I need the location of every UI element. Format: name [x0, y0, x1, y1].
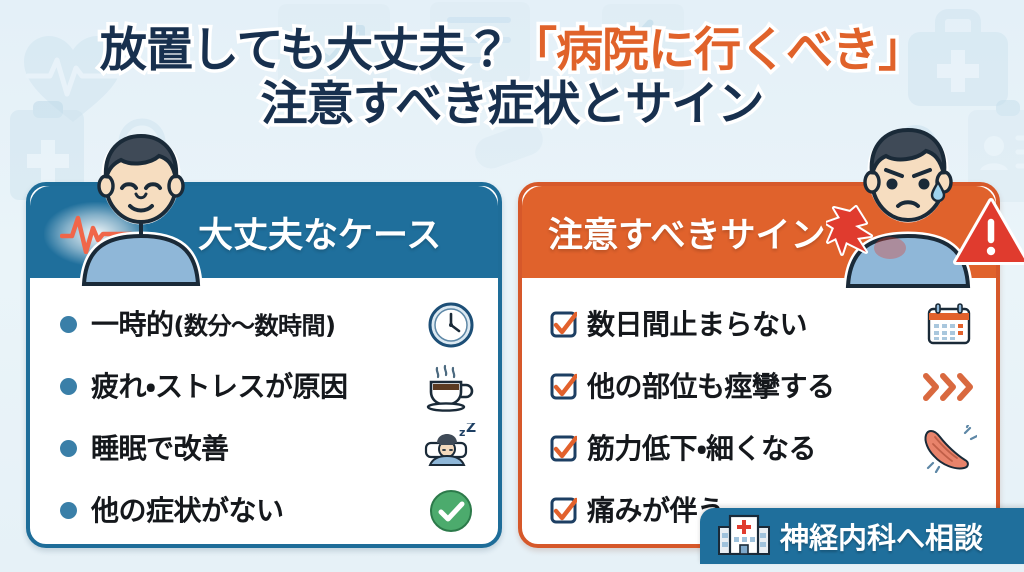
warning-signs-list: 数日間止まらない [522, 278, 996, 544]
infographic-canvas: 放置しても大丈夫？「病院に行くべき」 注意すべき症状とサイン 大丈夫なケース 一… [0, 0, 1024, 572]
triple-chevron-icon [918, 361, 980, 413]
badge-label: 神経内科へ相談 [780, 515, 983, 557]
calendar-icon [918, 299, 980, 351]
page-title: 放置しても大丈夫？「病院に行くべき」 注意すべき症状とサイン [0, 26, 1024, 130]
list-item-label: 一時的(数分～数時間) [91, 311, 420, 339]
list-item: 睡眠で改善 z Z [46, 420, 482, 477]
pain-flash-icon [826, 205, 888, 269]
checkbox-marker [538, 435, 587, 462]
list-item-label: 他の症状がない [91, 497, 420, 525]
list-item: 一時的(数分～数時間) [46, 296, 482, 353]
bullet-marker [46, 440, 91, 457]
coffee-cup-icon [420, 361, 482, 413]
list-item: 他の症状がない [46, 482, 482, 539]
svg-text:z: z [459, 426, 465, 439]
title-subline: 注意すべき症状とサイン [261, 77, 764, 132]
list-item: 筋力低下・細くなる [538, 420, 980, 477]
status-badge[interactable]: 神経内科へ相談 [700, 508, 1024, 564]
bullet-marker [46, 378, 91, 395]
checkbox-marker [538, 373, 587, 400]
muscle-icon [918, 423, 980, 475]
sleeping-person-icon: z Z [420, 423, 482, 475]
list-item-label: 筋力低下・細くなる [587, 435, 918, 463]
hospital-icon [718, 513, 770, 559]
bullet-marker [46, 316, 91, 333]
smiling-man-icon [66, 128, 216, 290]
list-item-label: 数日間止まらない [587, 311, 918, 339]
list-item-label: 他の部位も痙攣する [587, 373, 918, 401]
green-check-icon [420, 485, 482, 537]
title-part-question: 放置しても大丈夫？ [100, 23, 510, 78]
list-item: 他の部位も痙攣する [538, 358, 980, 415]
safe-cases-title: 大丈夫なケース [198, 207, 441, 258]
safe-cases-list: 一時的(数分～数時間) 疲れ・ストレスが原因 [30, 278, 498, 544]
list-item-note: (数分～数時間) [174, 312, 336, 340]
clock-icon [420, 299, 482, 351]
list-item-label: 疲れ・ストレスが原因 [91, 373, 420, 401]
list-item: 疲れ・ストレスが原因 [46, 358, 482, 415]
list-item-label: 睡眠で改善 [91, 435, 420, 463]
bullet-marker [46, 502, 91, 519]
svg-text:Z: Z [466, 423, 476, 436]
title-part-quoted: 「病院に行くべき」 [510, 23, 924, 78]
warning-signs-title: 注意すべきサイン [548, 207, 826, 258]
list-item: 数日間止まらない [538, 296, 980, 353]
checkbox-marker [538, 497, 587, 524]
checkbox-marker [538, 311, 587, 338]
warning-triangle-icon [952, 196, 1024, 272]
